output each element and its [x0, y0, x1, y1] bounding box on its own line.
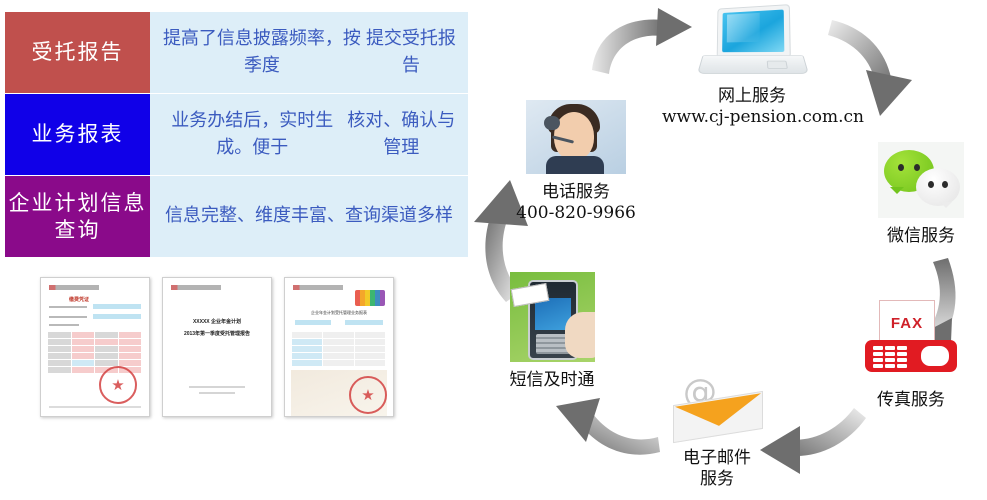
wechat-bubble-white [916, 168, 960, 206]
fax-icon: FAX [865, 300, 957, 380]
doc-table [292, 332, 386, 367]
doc-table-row [292, 339, 386, 345]
fax-handset [921, 346, 949, 366]
diagram-canvas: 受托报告 提高了信息披露频率，按季度 提交受托报告 业务报表 业务办结后，实时生… [0, 0, 987, 500]
service-label-wechat: 微信服务 [866, 226, 976, 247]
official-seal-icon: ★ [349, 376, 387, 414]
doc-title: XXXXX 企业年金计划 [163, 318, 271, 325]
service-label-fax: 传真服务 [856, 390, 966, 411]
document-thumbnail-business-statement: 企业年金计划受托管理业务报表 ★ [284, 277, 394, 417]
doc-table [48, 332, 142, 374]
doc-table-row [48, 353, 142, 359]
laptop-screen [722, 10, 784, 53]
doc-line [49, 406, 141, 408]
service-label-phone: 电话服务 [506, 182, 646, 203]
laptop-base [697, 55, 809, 74]
document-thumbnails: 缴费凭证 ★ XXXXX 企业年金计划 2013年第一季度受托管理报告 [40, 277, 394, 417]
table-row: 业务报表 业务办结后，实时生成。便于 核对、确认与管理 [5, 94, 468, 175]
service-node-fax[interactable]: FAX 传真服务 [856, 300, 966, 411]
doc-line [199, 392, 235, 394]
rainbow-logo-icon [355, 290, 385, 306]
feature-desc-plan-info-query: 信息完整、维度丰富、查询 渠道多样 [150, 176, 468, 257]
doc-subtitle: 2013年第一季度受托管理报告 [163, 330, 271, 337]
fax-keypad [873, 346, 907, 368]
feature-desc-business-statement: 业务办结后，实时生成。便于 核对、确认与管理 [150, 94, 468, 175]
doc-table-row [48, 339, 142, 345]
agent-face [554, 112, 594, 160]
doc-field [93, 314, 141, 319]
company-logo-icon [171, 285, 221, 290]
feature-header-plan-info-query: 企业计划信息查询 [5, 176, 150, 257]
service-node-sms[interactable]: 短信及时通 [492, 272, 612, 391]
feature-desc-line1: 提高了信息披露频率，按季度 [160, 26, 364, 78]
feature-desc-line2: 提交受托报告 [364, 26, 458, 78]
feature-desc-entrusted-report: 提高了信息披露频率，按季度 提交受托报告 [150, 12, 468, 93]
feature-desc-line1: 业务办结后，实时生成。便于 [160, 108, 344, 160]
service-label-email-line2: 服务 [652, 469, 782, 490]
table-row: 受托报告 提高了信息披露频率，按季度 提交受托报告 [5, 12, 468, 93]
service-node-web[interactable]: 网上服务 www.cj-pension.com.cn [662, 6, 842, 129]
service-url-web[interactable]: www.cj-pension.com.cn [662, 107, 842, 128]
service-node-email[interactable]: @ 电子邮件 服务 [652, 372, 782, 491]
doc-line [49, 306, 87, 308]
doc-line [49, 316, 87, 318]
document-thumbnail-quarterly-report: XXXXX 企业年金计划 2013年第一季度受托管理报告 [162, 277, 272, 417]
feature-desc-line1: 信息完整、维度丰富、查询 [165, 203, 381, 229]
doc-line [189, 386, 245, 388]
feature-desc-line2: 核对、确认与管理 [344, 108, 458, 160]
service-label-email: 电子邮件 [652, 448, 782, 469]
feature-desc-line2: 渠道多样 [381, 203, 453, 229]
feature-header-business-statement: 业务报表 [5, 94, 150, 175]
official-seal-icon: ★ [99, 366, 137, 404]
doc-table-row [292, 353, 386, 359]
agent-torso [546, 156, 604, 174]
doc-field [295, 320, 331, 325]
service-node-wechat[interactable]: 微信服务 [866, 142, 976, 247]
doc-title: 缴费凭证 [69, 296, 89, 303]
company-logo-icon [293, 285, 343, 290]
doc-table-row [48, 360, 142, 366]
mobile-phone-icon [510, 272, 595, 362]
envelope-at-icon: @ [667, 372, 767, 444]
doc-title: 企业年金计划受托管理业务报表 [285, 310, 393, 316]
feature-table: 受托报告 提高了信息披露频率，按季度 提交受托报告 业务报表 业务办结后，实时生… [5, 12, 468, 260]
fax-label-text: FAX [891, 315, 923, 332]
doc-field [345, 320, 383, 325]
fax-machine-body [865, 340, 957, 372]
seal-star-icon: ★ [361, 388, 374, 403]
document-thumbnail-payment-voucher: 缴费凭证 ★ [40, 277, 150, 417]
call-center-agent-icon [526, 100, 626, 174]
company-logo-icon [49, 285, 99, 290]
feature-header-entrusted-report: 受托报告 [5, 12, 150, 93]
wechat-icon [878, 142, 964, 218]
doc-table-row [48, 332, 142, 338]
seal-star-icon: ★ [111, 378, 124, 393]
laptop-lid [717, 4, 791, 58]
laptop-trackpad [767, 61, 788, 69]
doc-table-row [48, 346, 142, 352]
doc-table-row [292, 346, 386, 352]
service-label-web: 网上服务 [662, 86, 842, 107]
service-node-phone[interactable]: 电话服务 400-820-9966 [506, 100, 646, 225]
service-hotline-number[interactable]: 400-820-9966 [506, 203, 646, 224]
table-row: 企业计划信息查询 信息完整、维度丰富、查询 渠道多样 [5, 176, 468, 257]
doc-line [49, 324, 79, 326]
arrow-email-to-sms [556, 398, 660, 455]
hand-icon [565, 312, 595, 358]
service-label-sms: 短信及时通 [492, 370, 612, 391]
doc-field [93, 304, 141, 309]
laptop-icon [698, 6, 806, 78]
doc-table-row [292, 332, 386, 338]
headset-icon [544, 116, 560, 130]
doc-table-row [292, 360, 386, 366]
